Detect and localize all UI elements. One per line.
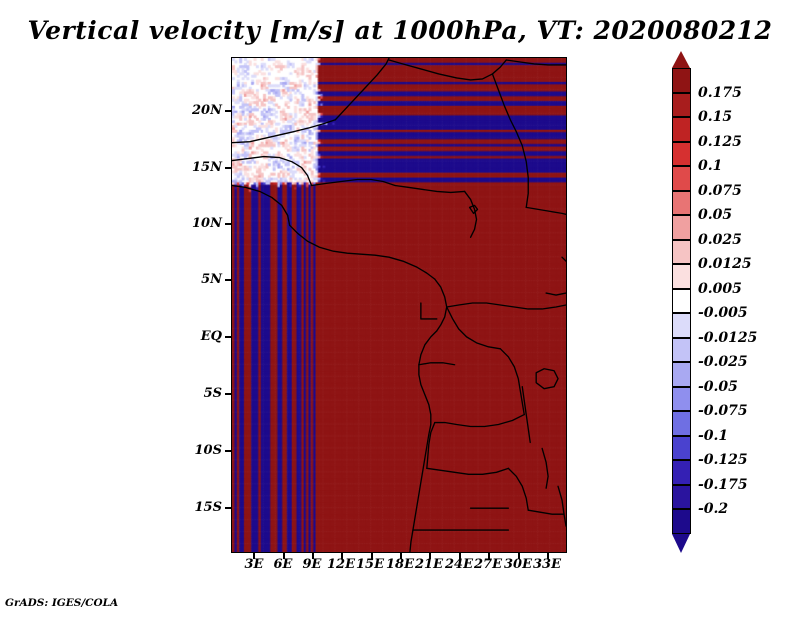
colorbar-tick-label: -0.175	[698, 477, 748, 493]
colorbar-tick-label: 0.025	[698, 232, 742, 248]
colorbar-segment	[672, 460, 691, 485]
y-tick-mark	[225, 336, 232, 338]
colorbar-cap-bottom	[672, 534, 690, 553]
x-tick-mark	[518, 553, 520, 559]
y-tick-mark	[225, 223, 232, 225]
colorbar-segment	[672, 240, 691, 265]
colorbar-segment	[672, 142, 691, 167]
y-tick-label-EQ: EQ	[170, 329, 222, 344]
x-tick-mark	[371, 553, 373, 559]
y-tick-label-15S: 15S	[170, 500, 222, 515]
colorbar-tick-label: 0.075	[698, 183, 742, 199]
y-tick-label-5N: 5N	[170, 272, 222, 287]
y-tick-label-5S: 5S	[170, 386, 222, 401]
colorbar-segment	[672, 485, 691, 510]
x-tick-mark	[488, 553, 490, 559]
colorbar-segment	[672, 264, 691, 289]
colorbar-segment	[672, 289, 691, 314]
map-plot-area	[231, 57, 567, 553]
colorbar-segment	[672, 215, 691, 240]
y-tick-label-10S: 10S	[170, 443, 222, 458]
colorbar-cap-top	[672, 51, 690, 68]
y-tick-mark	[225, 279, 232, 281]
x-tick-mark	[429, 553, 431, 559]
colorbar-tick-label: 0.0125	[698, 256, 752, 272]
y-tick-mark	[225, 507, 232, 509]
x-tick-mark	[459, 553, 461, 559]
colorbar-segment	[672, 93, 691, 118]
x-tick-mark	[283, 553, 285, 559]
colorbar-segment	[672, 338, 691, 363]
colorbar-tick-label: -0.125	[698, 452, 748, 468]
colorbar-segment	[672, 191, 691, 216]
colorbar-tick-label: -0.2	[698, 501, 728, 517]
page-title: Vertical velocity [m/s] at 1000hPa, VT: …	[0, 16, 800, 45]
colorbar-segment	[672, 509, 691, 534]
colorbar-tick-label: -0.1	[698, 428, 728, 444]
colorbar-segment	[672, 313, 691, 338]
y-tick-label-20N: 20N	[170, 103, 222, 118]
colorbar-tick-label: -0.025	[698, 354, 748, 370]
y-tick-label-10N: 10N	[170, 216, 222, 231]
colorbar-tick-label: 0.1	[698, 158, 722, 174]
y-tick-mark	[225, 450, 232, 452]
x-tick-mark	[341, 553, 343, 559]
colorbar-tick-label: -0.05	[698, 379, 738, 395]
colorbar-segment	[672, 117, 691, 142]
colorbar-segment	[672, 436, 691, 461]
colorbar-tick-label: -0.005	[698, 305, 748, 321]
colorbar-tick-label: 0.05	[698, 207, 732, 223]
y-tick-mark	[225, 393, 232, 395]
colorbar-tick-label: 0.005	[698, 281, 742, 297]
colorbar-segment	[672, 411, 691, 436]
colorbar	[672, 68, 691, 534]
x-tick-mark	[400, 553, 402, 559]
colorbar-tick-label: 0.125	[698, 134, 742, 150]
y-tick-label-15N: 15N	[170, 160, 222, 175]
colorbar-tick-label: 0.15	[698, 109, 732, 125]
colorbar-segment	[672, 362, 691, 387]
x-tick-mark	[253, 553, 255, 559]
country-borders-overlay	[232, 58, 566, 552]
x-tick-mark	[312, 553, 314, 559]
x-tick-label-33E: 33E	[524, 557, 570, 572]
y-tick-mark	[225, 110, 232, 112]
y-tick-mark	[225, 167, 232, 169]
colorbar-tick-label: 0.175	[698, 85, 742, 101]
colorbar-tick-label: -0.075	[698, 403, 748, 419]
colorbar-segment	[672, 68, 691, 93]
colorbar-segment	[672, 166, 691, 191]
colorbar-tick-label: -0.0125	[698, 330, 757, 346]
x-tick-mark	[547, 553, 549, 559]
colorbar-segment	[672, 387, 691, 412]
grads-credit: GrADS: IGES/COLA	[5, 597, 118, 609]
